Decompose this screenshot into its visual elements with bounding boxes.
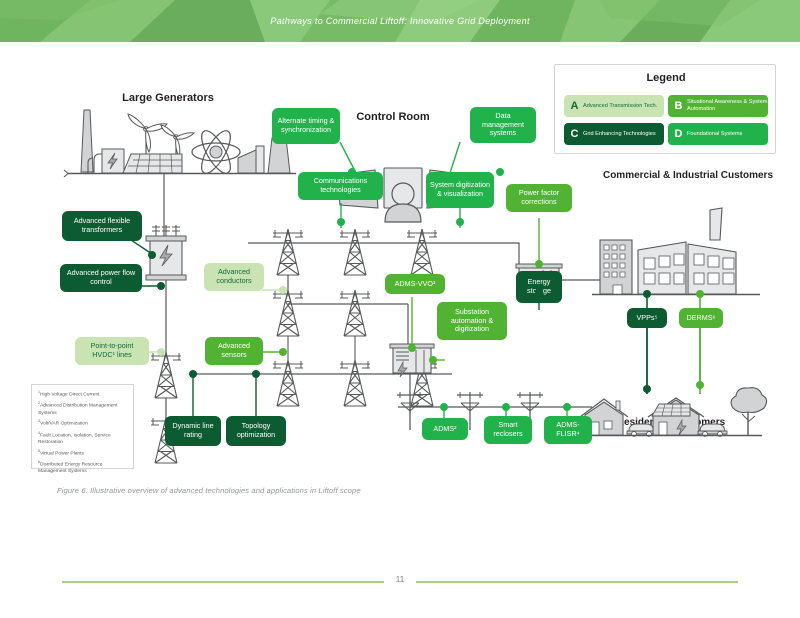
connector-dot-topology-optimization xyxy=(252,370,260,378)
callout-substation-automation-digitization[interactable]: Substation automation & digitization xyxy=(437,302,507,340)
connector-dot-derms xyxy=(696,290,704,298)
callout-alternate-timing-synchronization[interactable]: Alternate timing & synchronization xyxy=(272,108,340,144)
connector-dot-communications-technologies xyxy=(337,218,345,226)
callout-derms[interactable]: DERMS⁶ xyxy=(679,308,723,328)
header-title: Pathways to Commercial Liftoff: Innovati… xyxy=(0,0,800,42)
callout-vpps[interactable]: VPPs⁵ xyxy=(627,308,667,328)
callout-system-digitization-visualization[interactable]: System digitization & visualization xyxy=(426,172,494,208)
callout-data-management-systems[interactable]: Data management systems xyxy=(470,107,536,143)
callout-communications-technologies[interactable]: Communications technologies xyxy=(298,172,383,200)
connector-dot-vpps xyxy=(643,290,651,298)
connector-dot-data-management-systems xyxy=(496,168,504,176)
callout-advanced-sensors[interactable]: Advanced sensors xyxy=(205,337,263,365)
connector-dot-adms xyxy=(440,403,448,411)
callout-advanced-conductors[interactable]: Advanced conductors xyxy=(204,263,264,291)
connector-dot-advanced-power-flow-control xyxy=(157,282,165,290)
callout-point-to-point-hvdc[interactable]: Point-to-point HVDC¹ lines xyxy=(75,337,149,365)
connector-dot-substation-automation xyxy=(429,356,437,364)
connector-dot-residential-derms xyxy=(696,381,704,389)
connector-dot-energy-storage xyxy=(535,288,543,296)
footer-rule-right xyxy=(416,581,738,583)
connector-dot-adms-vvo xyxy=(408,344,416,352)
page-header-band: Pathways to Commercial Liftoff: Innovati… xyxy=(0,0,800,42)
footer-rule-left xyxy=(62,581,384,583)
page-footer: 11 xyxy=(0,572,800,592)
callout-power-factor-corrections[interactable]: Power factor corrections xyxy=(506,184,572,212)
connector-dot-power-factor-corrections xyxy=(535,260,543,268)
connector-dot-point-to-point-hvdc xyxy=(157,348,165,356)
callout-adms[interactable]: ADMS² xyxy=(422,418,468,440)
connector-dot-alternate-timing xyxy=(348,168,356,176)
callout-dynamic-line-rating[interactable]: Dynamic line rating xyxy=(165,416,221,446)
callout-adms-vvo[interactable]: ADMS-VVO³ xyxy=(385,274,445,294)
connector-dot-adms-flisr xyxy=(563,403,571,411)
callout-adms-flisr[interactable]: ADMS-FLISR⁴ xyxy=(544,416,592,444)
connector-dot-smart-reclosers xyxy=(502,403,510,411)
callout-advanced-flexible-transformers[interactable]: Advanced flexible transformers xyxy=(62,211,142,241)
connector-dot-advanced-conductors xyxy=(279,286,287,294)
connector-dot-residential-vpp xyxy=(643,385,651,393)
callout-energy-storage[interactable]: Energy storage xyxy=(516,271,562,303)
callout-topology-optimization[interactable]: Topology optimization xyxy=(226,416,286,446)
page-number: 11 xyxy=(384,574,416,584)
connector-dot-advanced-flexible-transformers xyxy=(148,251,156,259)
callout-advanced-power-flow-control[interactable]: Advanced power flow control xyxy=(60,264,142,292)
callout-smart-reclosers[interactable]: Smart reclosers xyxy=(484,416,532,444)
connector-dot-dynamic-line-rating xyxy=(189,370,197,378)
connector-dot-advanced-sensors xyxy=(279,348,287,356)
connector-dot-system-digitization xyxy=(456,218,464,226)
